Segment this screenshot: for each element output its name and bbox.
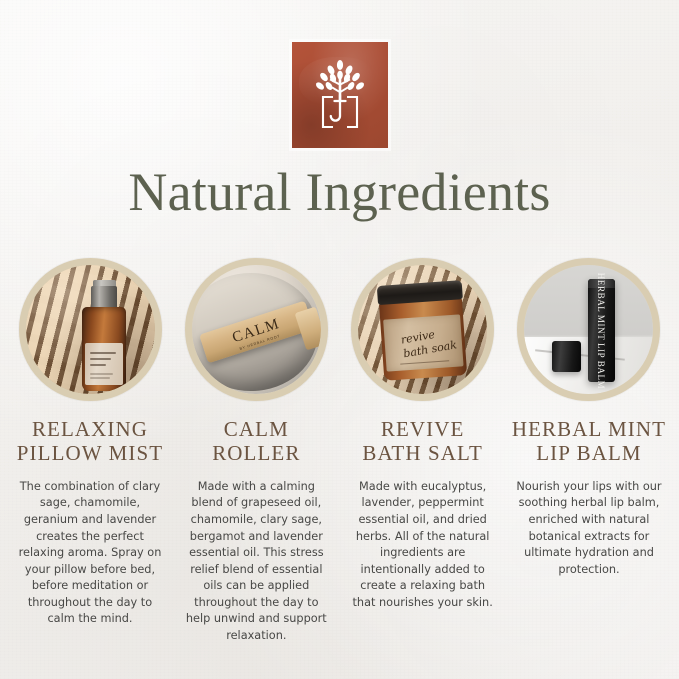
product-title: REVIVE BATH SALT — [362, 417, 483, 466]
product-title: CALM ROLLER — [212, 417, 300, 466]
herbal-mint-lip-balm-photo: HERBAL MINT LIP BALM — [517, 258, 660, 401]
photo-inner: HERBAL MINT LIP BALM — [524, 265, 653, 394]
bath-salt-jar: revive bath soak — [377, 280, 469, 381]
bottle-pump-collar — [91, 286, 117, 309]
page-title: Natural Ingredients — [0, 163, 679, 222]
relaxing-pillow-mist-photo — [19, 258, 162, 401]
product-card-relaxing-pillow-mist: RELAXING PILLOW MIST The combination of … — [10, 258, 170, 628]
product-description: Nourish your lips with our soothing herb… — [514, 479, 664, 579]
calm-roller-photo: CALM BY HERBAL ROOT — [185, 258, 328, 401]
photo-inner — [26, 265, 155, 394]
lip-balm-tube: HERBAL MINT LIP BALM — [588, 279, 615, 382]
jar-label-fineprint — [400, 360, 449, 365]
product-card-herbal-mint-lip-balm: HERBAL MINT LIP BALM HERBAL MINT LIP BAL… — [509, 258, 669, 578]
lip-balm-label-text: HERBAL MINT LIP BALM — [596, 273, 606, 389]
natural-ingredients-infographic: Natural Ingredients — [0, 0, 679, 679]
jar-glass-body: revive bath soak — [379, 297, 468, 381]
product-title: RELAXING PILLOW MIST — [17, 417, 163, 466]
lip-balm-cap — [552, 341, 582, 372]
product-card-revive-bath-salt: revive bath soak REVIVE BATH SALT Made w… — [343, 258, 503, 611]
product-description: Made with eucalyptus, lavender, peppermi… — [348, 479, 498, 612]
tree-in-bracket-icon — [309, 59, 371, 131]
revive-bath-salt-photo: revive bath soak — [351, 258, 494, 401]
product-description: Made with a calming blend of grapeseed o… — [181, 479, 331, 645]
amber-bottle-body — [82, 307, 126, 391]
photo-inner: revive bath soak — [358, 265, 487, 394]
bottle-label — [85, 343, 124, 385]
product-title: HERBAL MINT LIP BALM — [512, 417, 666, 466]
product-grid: RELAXING PILLOW MIST The combination of … — [10, 258, 669, 645]
product-card-calm-roller: CALM BY HERBAL ROOT CALM ROLLER Made wit… — [176, 258, 336, 645]
jar-kraft-label: revive bath soak — [383, 315, 463, 372]
jar-label-script: revive bath soak — [400, 323, 464, 360]
brand-logo — [292, 42, 388, 148]
product-description: The combination of clary sage, chamomile… — [14, 479, 166, 628]
spray-bottle — [82, 280, 126, 391]
photo-inner: CALM BY HERBAL ROOT — [192, 265, 321, 394]
